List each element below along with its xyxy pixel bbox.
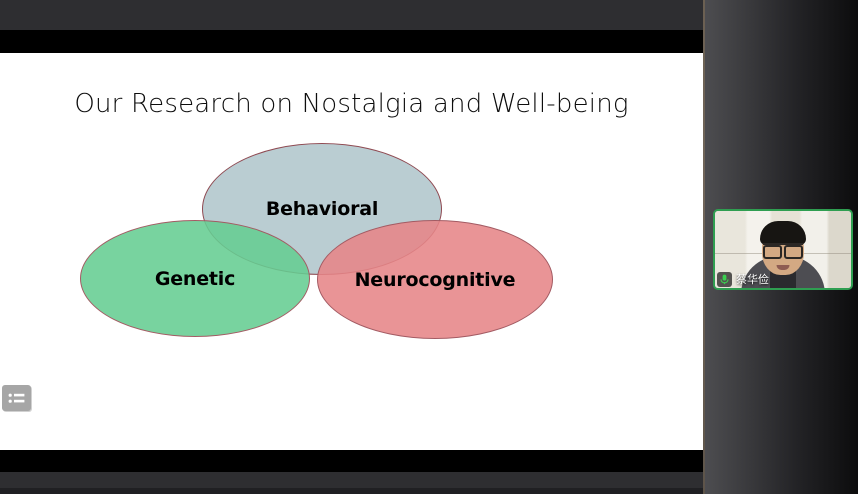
venn-label-behavioral: Behavioral [266,198,378,220]
venn-diagram: Behavioral Genetic Neurocognitive [60,143,580,383]
list-icon [8,392,25,405]
participant-video-tile[interactable]: 蔡华俭 [713,209,853,290]
bottom-edge-strip [0,488,705,494]
venn-label-neurocognitive: Neurocognitive [355,269,516,291]
slide-title: Our Research on Nostalgia and Well-being [0,89,703,119]
slide-letterbox-top [0,30,705,53]
bottom-toolbar-bar[interactable] [0,472,705,488]
presentation-slide[interactable]: Our Research on Nostalgia and Well-being… [0,53,703,450]
participant-sidebar[interactable]: 蔡华俭 [705,0,858,494]
slide-options-button[interactable] [2,385,31,411]
screen-share-region[interactable]: Our Research on Nostalgia and Well-being… [0,0,705,494]
slide-letterbox-bottom [0,450,705,472]
microphone-glyph [720,274,729,285]
microphone-icon[interactable] [717,272,732,287]
participant-name-bar: 蔡华俭 [715,270,774,288]
glasses-icon [763,243,803,256]
meeting-window: Our Research on Nostalgia and Well-being… [0,0,858,494]
participant-avatar-hair [760,221,806,245]
top-letterbox-bar [0,0,705,30]
venn-label-genetic: Genetic [155,268,235,290]
participant-name: 蔡华俭 [736,271,769,287]
venn-circle-neurocognitive: Neurocognitive [317,220,553,339]
venn-circle-genetic: Genetic [80,220,310,337]
